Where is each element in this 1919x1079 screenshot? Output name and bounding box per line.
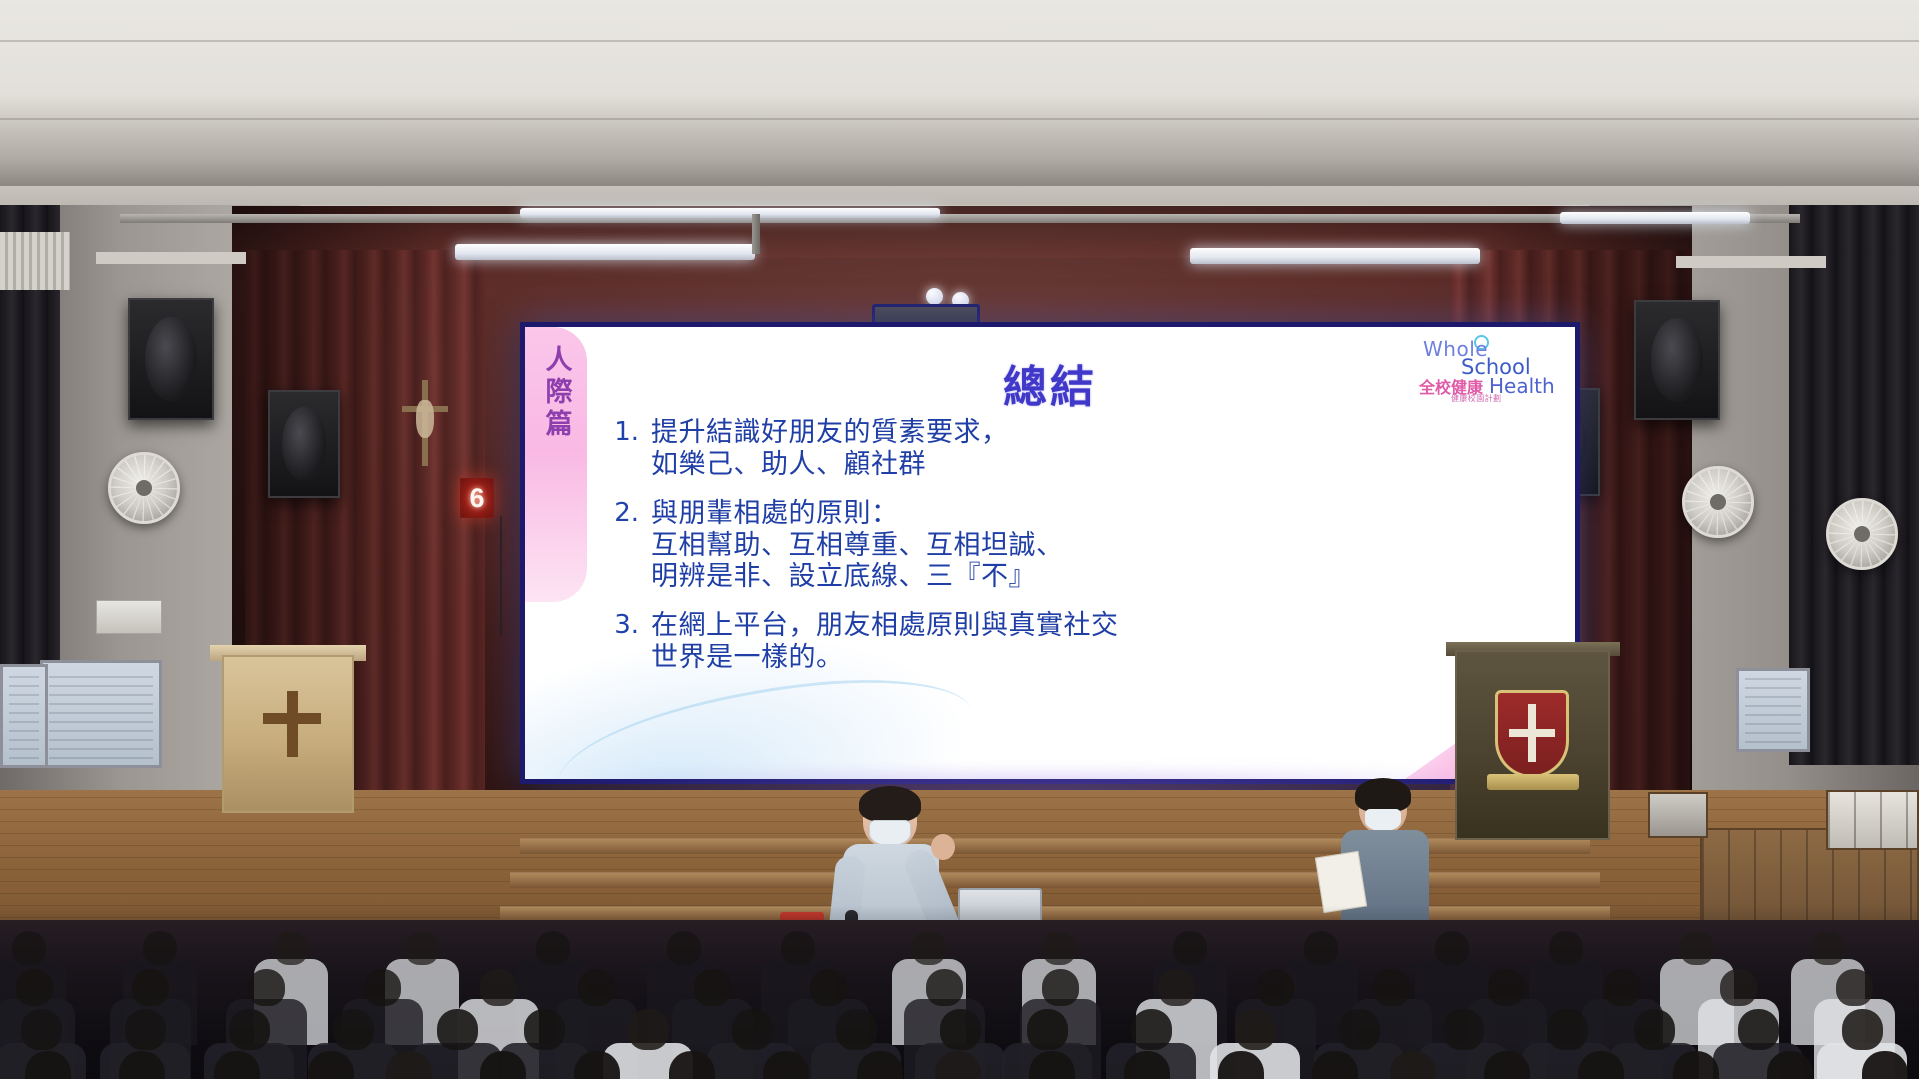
slide-bullet-list: 1. 提升結識好朋友的質素要求， 如樂己、助人、顧社群 2. 與朋輩相處的原則：…	[611, 417, 1535, 691]
audience-student-head	[574, 1051, 620, 1079]
audience-student-head	[1158, 969, 1195, 1006]
wall-fan-far-right	[1826, 498, 1898, 570]
audience-student-head	[143, 931, 177, 965]
audience-student	[1740, 1051, 1839, 1079]
lectern-cross-vertical	[287, 691, 298, 757]
audience-student-head	[926, 969, 963, 1006]
audience-student-head	[1738, 1009, 1779, 1050]
ceiling-light-bar	[1190, 248, 1480, 264]
audience-student	[1363, 1051, 1462, 1079]
audience-student-head	[1042, 931, 1076, 965]
slide-bullet-item: 2. 與朋輩相處的原則： 互相幫助、互相尊重、互相坦誠、 明辨是非、設立底線、三…	[611, 498, 1535, 594]
bullet-number: 3.	[611, 610, 651, 674]
notice-board	[40, 660, 162, 768]
bullet-line: 互相幫助、互相尊重、互相坦誠、	[651, 530, 1064, 562]
audience-student-head	[25, 1051, 71, 1079]
audience-student-head	[1304, 931, 1338, 965]
audience-student-head	[667, 931, 701, 965]
projector-lamp	[926, 288, 943, 305]
notice-board-right	[1736, 668, 1810, 752]
audience-student-head	[12, 931, 46, 965]
audience-student-head	[628, 1009, 669, 1050]
ceiling-truss	[120, 214, 1800, 223]
presenter-face-mask	[869, 820, 911, 846]
audience-student-head	[1131, 1009, 1172, 1050]
audience-student	[92, 1051, 191, 1079]
audience-student-head	[524, 1009, 565, 1050]
assistant-papers	[1315, 851, 1367, 913]
audience-student-head	[480, 969, 517, 1006]
podium	[1455, 650, 1610, 840]
audience-student-head	[274, 931, 308, 965]
audience-student-head	[364, 969, 401, 1006]
audience-student-head	[1578, 1051, 1624, 1079]
projection-screen-frame: 人際篇 Whole School Health 全校健康 健康校園計劃 總結 1…	[520, 322, 1580, 784]
audience-student-head	[1027, 1009, 1068, 1050]
audience-student-head	[308, 1051, 354, 1079]
bullet-line: 明辨是非、設立底線、三『不』	[651, 561, 1064, 593]
audience-student-head	[1634, 1009, 1675, 1050]
audience-student-head	[1042, 969, 1079, 1006]
projector-mount-pole	[752, 214, 760, 254]
wall-crucifix	[398, 380, 452, 466]
fan-cage	[1685, 469, 1751, 535]
audience-student	[736, 1051, 835, 1079]
slide-title: 總結	[525, 351, 1575, 415]
lectern-cross-horizontal	[263, 713, 321, 724]
audience-student-head	[1257, 969, 1294, 1006]
audience-student-head	[1235, 1009, 1276, 1050]
audience-student-head	[480, 1051, 526, 1079]
audience-student-head	[940, 1009, 981, 1050]
audience-student-head	[132, 969, 169, 1006]
audience-student	[547, 1051, 646, 1079]
wall-fan-right	[1682, 466, 1754, 538]
bullet-line: 在網上平台，朋友相處原則與真實社交	[651, 610, 1119, 642]
audience-student-head	[386, 1051, 432, 1079]
audience-student-head	[1443, 1009, 1484, 1050]
audience-student-head	[1862, 1051, 1908, 1079]
crucifix-figure	[416, 400, 434, 438]
audience-student-head	[1218, 1051, 1264, 1079]
audience-student-head	[1488, 969, 1525, 1006]
bullet-text: 在網上平台，朋友相處原則與真實社交 世界是一樣的。	[651, 610, 1119, 674]
assistant-hair	[1355, 778, 1411, 812]
presenter-hair	[859, 786, 921, 822]
ceiling-light-bar	[1560, 212, 1750, 224]
audience-student-head	[732, 1009, 773, 1050]
audience-student-head	[1173, 931, 1207, 965]
speaker-bracket	[1676, 256, 1826, 268]
audience-student-head	[214, 1051, 260, 1079]
loudspeaker-right-upper	[1634, 300, 1720, 420]
audience-student-head	[1811, 931, 1845, 965]
ceiling-light-bar	[455, 244, 755, 260]
audience-student-head	[1373, 969, 1410, 1006]
crest-ribbon	[1487, 774, 1579, 790]
audience-student-head	[1390, 1051, 1436, 1079]
crest-cross-horizontal	[1509, 729, 1555, 737]
audience-student-head	[763, 1051, 809, 1079]
fan-cage	[111, 455, 177, 521]
audience-student-head	[1029, 1051, 1075, 1079]
audience-student-head	[125, 1009, 166, 1050]
audience-student-head	[1836, 969, 1873, 1006]
audience-student	[1002, 1051, 1101, 1079]
wooden-lectern	[222, 655, 354, 813]
audience-student-head	[781, 931, 815, 965]
audience-student-head	[21, 1009, 62, 1050]
audience-student	[908, 1051, 1007, 1079]
bullet-number: 1.	[611, 417, 651, 481]
audience-student-head	[578, 969, 615, 1006]
audience-student-head	[536, 931, 570, 965]
loudspeaker-left-upper	[128, 298, 214, 420]
room-number-sign: 6	[460, 478, 494, 518]
bullet-line: 世界是一樣的。	[651, 642, 1119, 674]
stacked-chairs	[1826, 790, 1919, 850]
audience-student-head	[1547, 1009, 1588, 1050]
audience-student-head	[810, 969, 847, 1006]
audience-student-head	[333, 1009, 374, 1050]
audience-student-head	[1339, 1009, 1380, 1050]
school-crest	[1495, 690, 1569, 778]
equipment-case	[1648, 792, 1708, 838]
audience-student	[1551, 1051, 1650, 1079]
bullet-line: 提升結識好朋友的質素要求，	[651, 417, 1009, 449]
notice-board-contents	[9, 673, 39, 759]
fan-cage	[1829, 501, 1895, 567]
audience-student	[1457, 1051, 1556, 1079]
ac-control-panel	[96, 600, 162, 634]
audience-student-head	[1312, 1051, 1358, 1079]
audience-student	[0, 1051, 97, 1079]
audience-student-head	[935, 1051, 981, 1079]
bullet-line: 與朋輩相處的原則：	[651, 498, 1064, 530]
audience-student-head	[1680, 931, 1714, 965]
audience-student-head	[1673, 1051, 1719, 1079]
audience-students	[0, 905, 1919, 1079]
audience-student	[1835, 1051, 1919, 1079]
room-number-label: 6	[469, 483, 484, 514]
audience-student-head	[16, 969, 53, 1006]
screenshot-root: 6 人際篇 Whole School Health 全校健康 健康校園計劃	[0, 0, 1919, 1079]
audience-student-head	[119, 1051, 165, 1079]
ceiling-vent	[0, 232, 70, 290]
audience-student	[359, 1051, 458, 1079]
audience-student-head	[1549, 931, 1583, 965]
notice-board	[0, 664, 48, 768]
ceiling-shadow	[0, 96, 1919, 186]
wall-fan-left	[108, 452, 180, 524]
audience-student-head	[912, 931, 946, 965]
audience-student-head	[836, 1009, 877, 1050]
loudspeaker-left-lower	[268, 390, 340, 498]
bullet-text: 與朋輩相處的原則： 互相幫助、互相尊重、互相坦誠、 明辨是非、設立底線、三『不』	[651, 498, 1064, 594]
audience-student	[453, 1051, 552, 1079]
stacked-chairs-lines	[1828, 792, 1917, 848]
audience-student	[1191, 1051, 1290, 1079]
audience-student-head	[1484, 1051, 1530, 1079]
audience-student-head	[857, 1051, 903, 1079]
audience-student	[187, 1051, 286, 1079]
audience-student	[1646, 1051, 1745, 1079]
wall-cable	[500, 516, 502, 636]
audience-student-head	[669, 1051, 715, 1079]
stage-step	[510, 872, 1600, 888]
audience-student-head	[1435, 931, 1469, 965]
assistant-face-mask	[1365, 809, 1401, 831]
audience-student	[1097, 1051, 1196, 1079]
audience-student-head	[1124, 1051, 1170, 1079]
audience-student-head	[1604, 969, 1641, 1006]
ceiling-seam	[0, 40, 1919, 42]
slide-bullet-item: 3. 在網上平台，朋友相處原則與真實社交 世界是一樣的。	[611, 610, 1535, 674]
bullet-text: 提升結識好朋友的質素要求， 如樂己、助人、顧社群	[651, 417, 1009, 481]
audience-student-head	[437, 1009, 478, 1050]
audience-student	[642, 1051, 741, 1079]
presenter-raised-hand	[931, 834, 955, 860]
audience-student-head	[1842, 1009, 1883, 1050]
projected-slide: 人際篇 Whole School Health 全校健康 健康校園計劃 總結 1…	[525, 327, 1575, 779]
audience-student-head	[229, 1009, 270, 1050]
audience-student-head	[405, 931, 439, 965]
bullet-line: 如樂己、助人、顧社群	[651, 449, 1009, 481]
audience-student-head	[1720, 969, 1757, 1006]
audience-student-head	[694, 969, 731, 1006]
notice-board-contents	[49, 669, 153, 759]
audience-student-head	[1767, 1051, 1813, 1079]
slide-bullet-item: 1. 提升結識好朋友的質素要求， 如樂己、助人、顧社群	[611, 417, 1535, 481]
notice-board-contents	[1745, 677, 1801, 743]
ceiling-light-bar	[520, 208, 940, 218]
audience-student-head	[248, 969, 285, 1006]
bullet-number: 2.	[611, 498, 651, 594]
speaker-bracket	[96, 252, 246, 264]
